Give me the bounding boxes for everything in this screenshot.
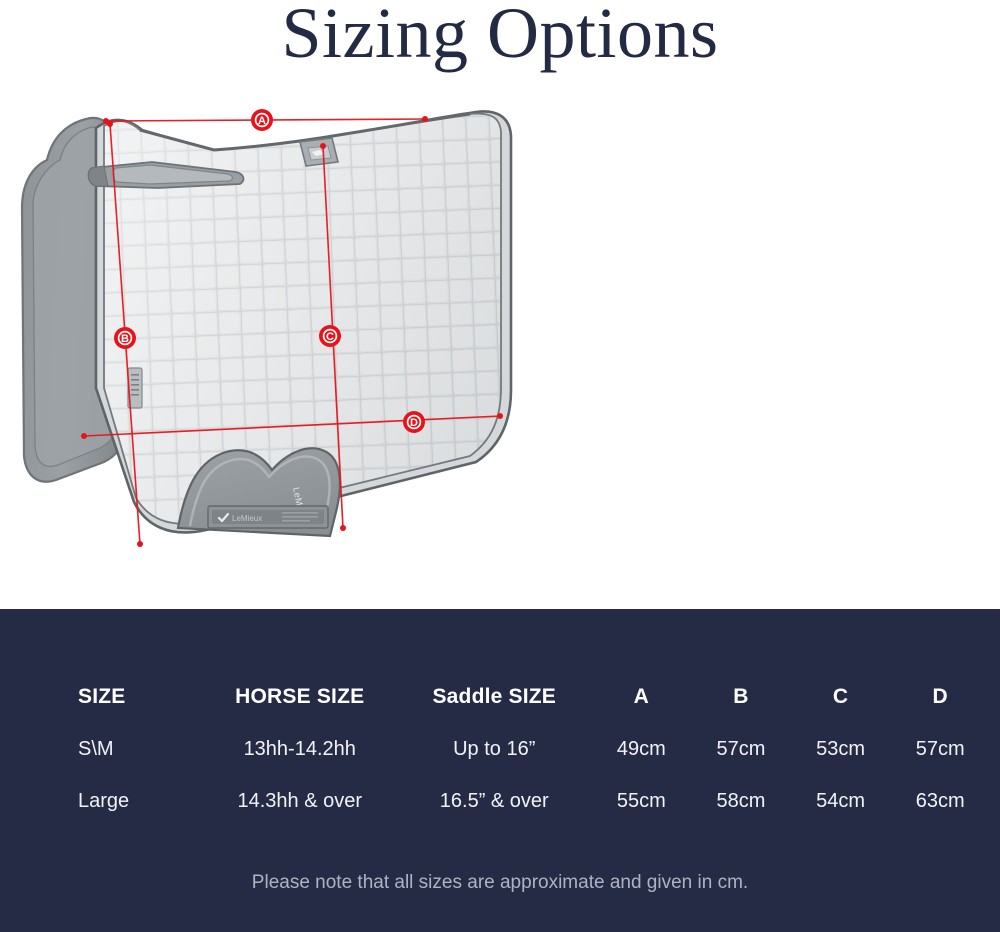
cell-c: 54cm	[791, 775, 891, 827]
cell-saddle-size: Up to 16”	[397, 723, 591, 775]
saddle-pad-diagram: LeMieux LeMieux	[0, 88, 1000, 608]
brand-tab-icon	[300, 138, 338, 166]
column-header-saddle-size: Saddle SIZE	[397, 671, 591, 723]
column-spacer	[990, 671, 1000, 723]
cell-c: 53cm	[791, 723, 891, 775]
cell-a: 55cm	[591, 775, 691, 827]
column-header-size: SIZE	[0, 671, 202, 723]
cell-spacer	[990, 723, 1000, 775]
column-header-c: C	[791, 671, 891, 723]
column-header-d: D	[890, 671, 990, 723]
cell-saddle-size: 16.5” & over	[397, 775, 591, 827]
cell-b: 58cm	[691, 775, 791, 827]
cell-b: 57cm	[691, 723, 791, 775]
table-header: SIZE HORSE SIZE Saddle SIZE A B C D	[0, 671, 1000, 723]
marker-badge-c: C	[319, 325, 341, 347]
care-label: LeMieux	[208, 506, 328, 528]
cell-size: S\M	[0, 723, 202, 775]
sizing-table: SIZE HORSE SIZE Saddle SIZE A B C D S\M …	[0, 671, 1000, 827]
page-title: Sizing Options	[0, 0, 1000, 73]
svg-text:C: C	[326, 331, 334, 343]
cell-horse-size: 14.3hh & over	[202, 775, 397, 827]
svg-text:A: A	[258, 115, 266, 127]
sizing-panel: SIZE HORSE SIZE Saddle SIZE A B C D S\M …	[0, 609, 1000, 932]
marker-badge-b: B	[114, 327, 136, 349]
sizing-options-page: Sizing Options	[0, 0, 1000, 932]
cell-size: Large	[0, 775, 202, 827]
column-header-horse-size: HORSE SIZE	[202, 671, 397, 723]
cell-horse-size: 13hh-14.2hh	[202, 723, 397, 775]
marker-badge-a: A	[251, 109, 273, 131]
saddle-pad-illustration: LeMieux LeMieux	[0, 88, 1000, 608]
cell-d: 57cm	[890, 723, 990, 775]
table-header-row: SIZE HORSE SIZE Saddle SIZE A B C D	[0, 671, 1000, 723]
svg-text:B: B	[121, 333, 129, 345]
svg-text:D: D	[410, 417, 418, 429]
column-header-a: A	[591, 671, 691, 723]
marker-badge-d: D	[403, 411, 425, 433]
sizing-footnote: Please note that all sizes are approxima…	[0, 872, 1000, 894]
cell-d: 63cm	[890, 775, 990, 827]
column-header-b: B	[691, 671, 791, 723]
table-body: S\M 13hh-14.2hh Up to 16” 49cm 57cm 53cm…	[0, 723, 1000, 827]
cell-spacer	[990, 775, 1000, 827]
cell-a: 49cm	[591, 723, 691, 775]
table-row: S\M 13hh-14.2hh Up to 16” 49cm 57cm 53cm…	[0, 723, 1000, 775]
svg-text:LeMieux: LeMieux	[232, 514, 262, 523]
table-row: Large 14.3hh & over 16.5” & over 55cm 58…	[0, 775, 1000, 827]
